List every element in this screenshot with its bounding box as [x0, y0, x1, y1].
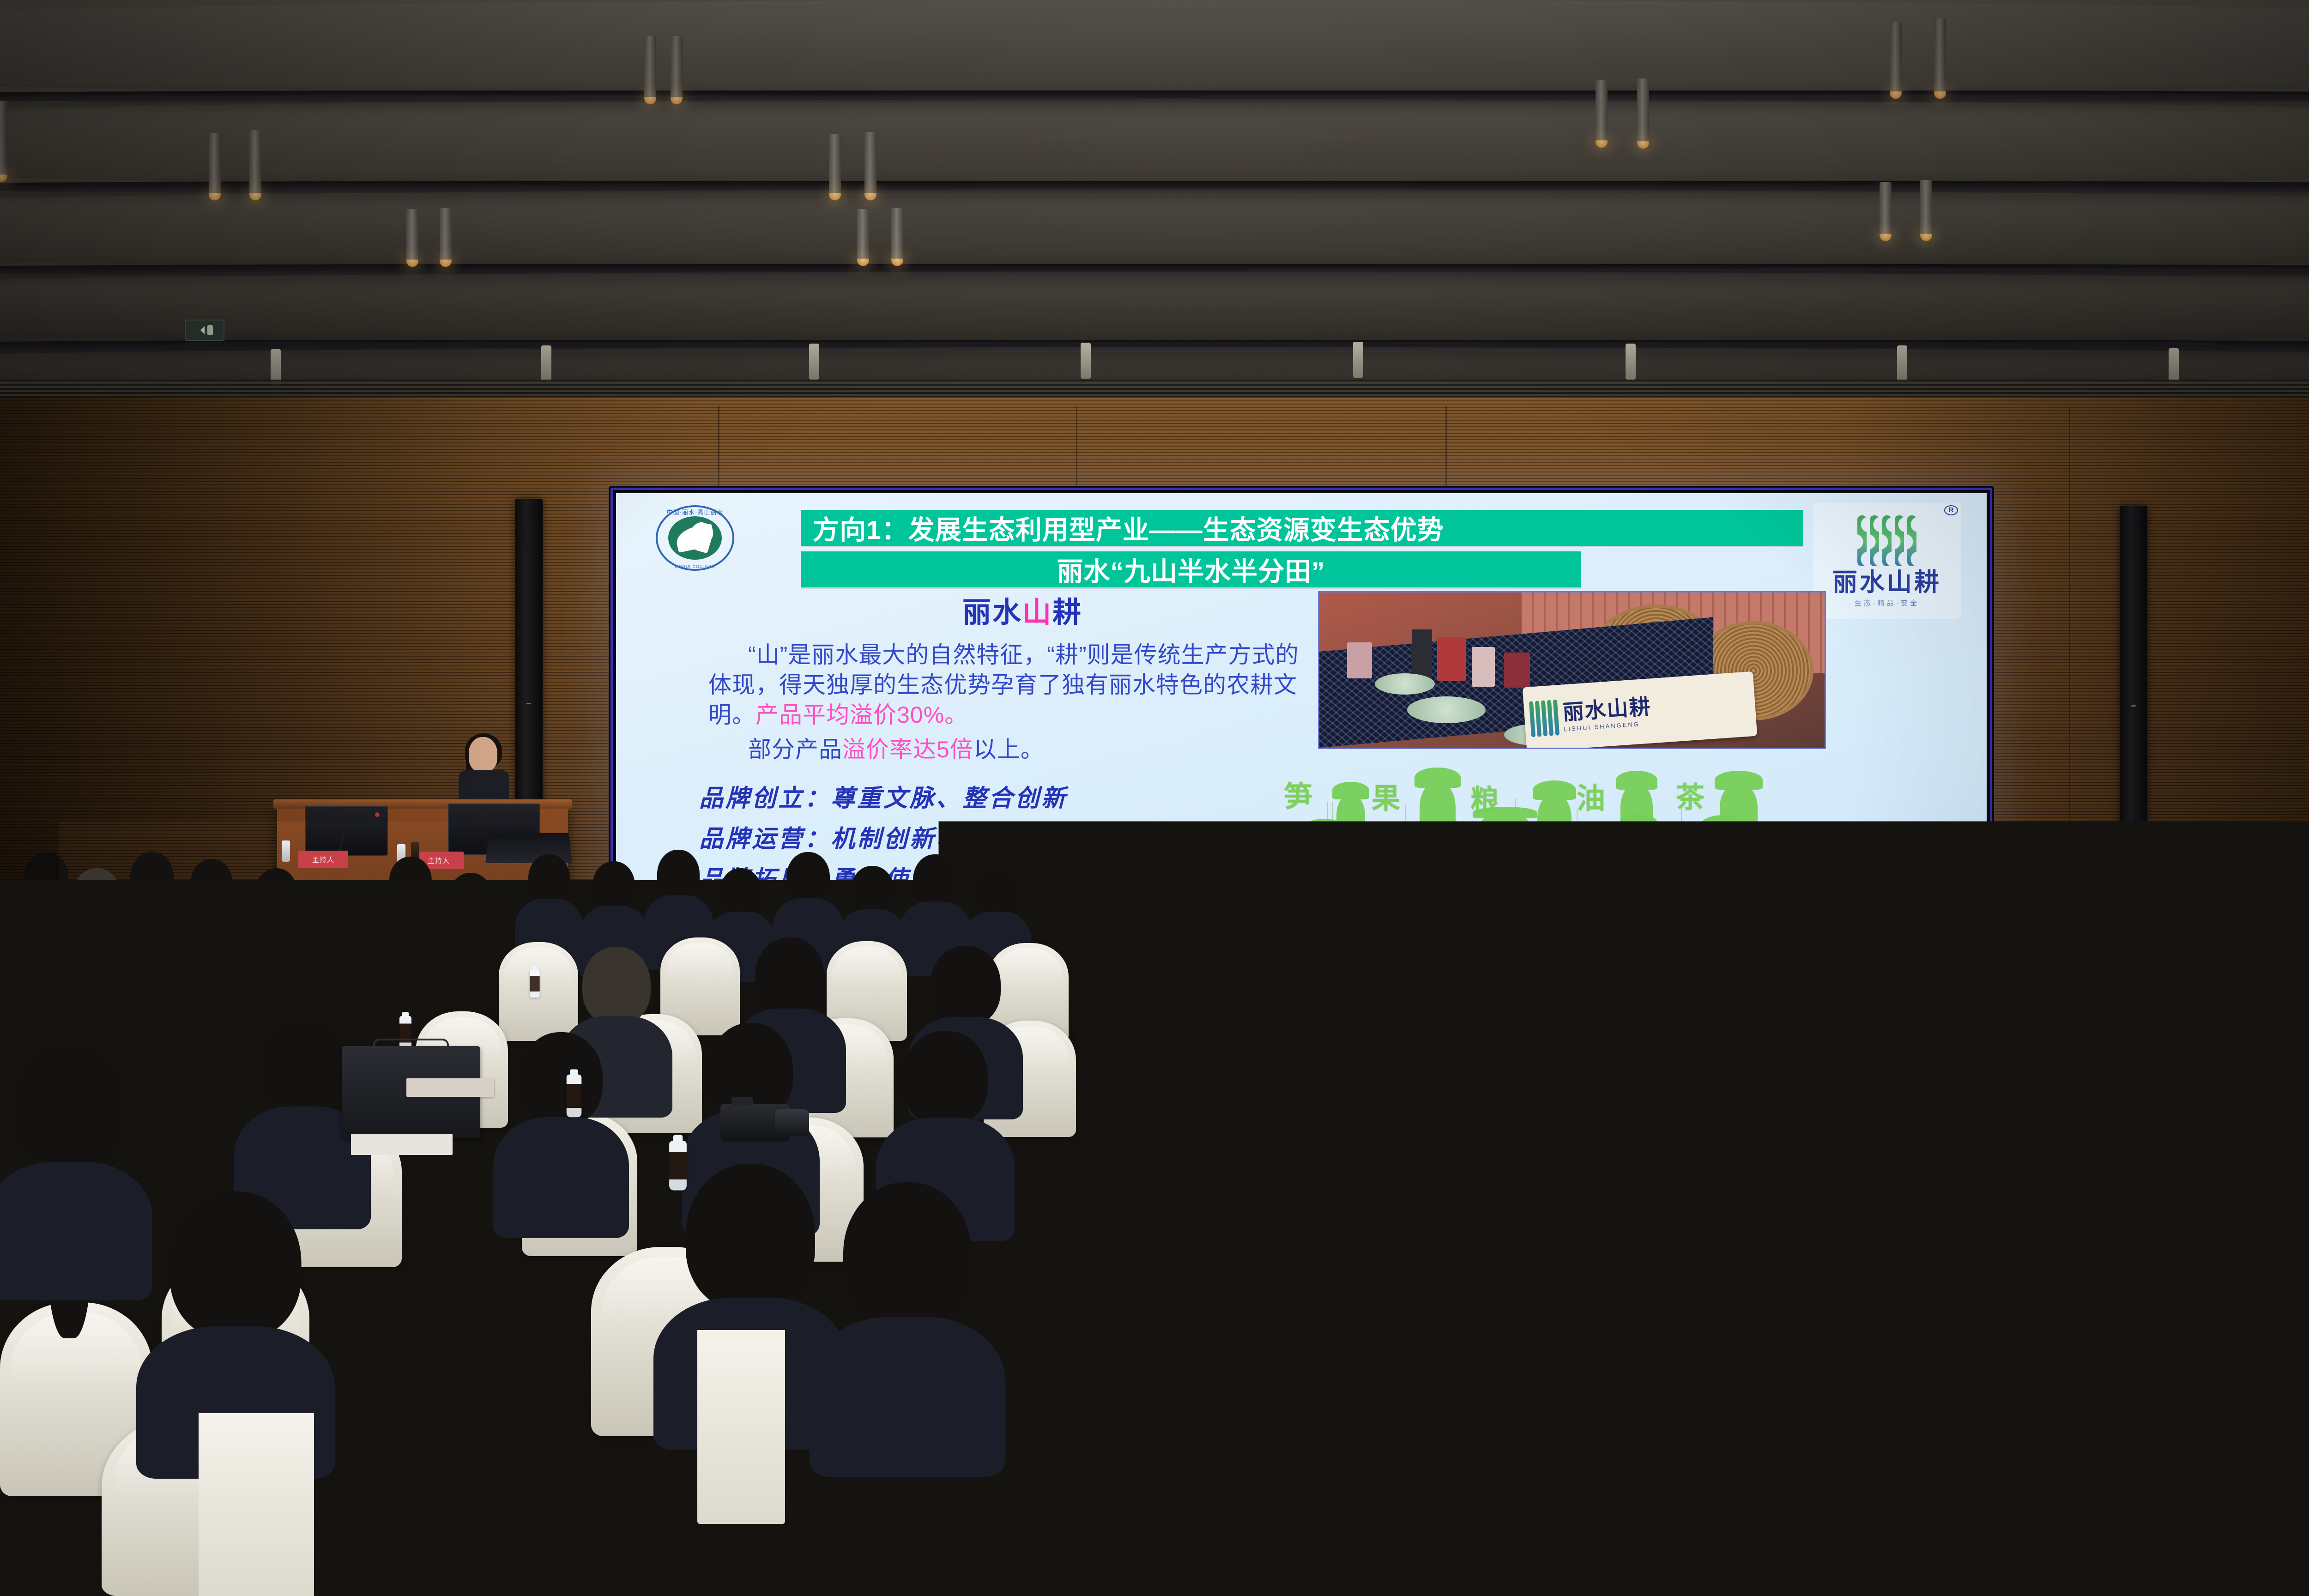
brand-heading-part1: 丽水: [962, 597, 1022, 629]
farm-char-cha: 茶: [1676, 774, 1705, 816]
brand-logo-subtitle: 生态·精品·安全: [1821, 598, 1952, 608]
brand-logo-name: 丽水山耕: [1821, 570, 1952, 595]
ceiling-downlight: [864, 132, 876, 200]
potted-plant-left: [1105, 919, 1174, 1016]
nameplate-host-left: 主持人: [298, 851, 348, 868]
audience-person: [249, 1021, 356, 1205]
ceiling-downlight: [406, 209, 418, 267]
audience-person: [2041, 1201, 2226, 1524]
audience-person: [0, 1044, 139, 1284]
chair-skirt: [199, 1413, 314, 1596]
chair-skirt: [1912, 1367, 2013, 1596]
wall-uplight: [809, 344, 819, 380]
audience-person: [152, 1191, 319, 1450]
chair-skirt: [697, 1330, 785, 1524]
water-bottle: [567, 1075, 582, 1118]
water-bottle: [669, 1141, 687, 1190]
exit-sign-icon: [185, 320, 224, 341]
slide-body-text: “山”是丽水最大的自然特征，“耕”则是传统生产方式的体现，得天独厚的生态优势孕育…: [708, 640, 1309, 765]
wall-uplight: [541, 345, 551, 381]
audience-person: [1870, 1025, 1981, 1218]
water-bottle: [1806, 1170, 1826, 1228]
ceiling-downlight: [644, 36, 656, 104]
paper-sheet: [351, 1134, 453, 1155]
body-paragraph-2-highlight: 溢价率达5倍: [842, 737, 973, 762]
ceiling-downlight: [440, 208, 452, 267]
wall-uplight: [1626, 344, 1636, 380]
ceiling-downlight: [857, 209, 869, 266]
ceiling-downlight: [1890, 22, 1902, 99]
body-paragraph-2a: 部分产品: [748, 737, 842, 762]
audience-person: [1783, 948, 1873, 1105]
dslr-camera: [720, 1104, 790, 1142]
body-paragraph-2b: 以上。: [973, 737, 1044, 762]
auditorium-scene: 中国·丽水·秀山丽水 LISHUI COLLEGE R 丽水山耕 生态·精品·安…: [0, 0, 2309, 1596]
audience-person: [249, 868, 303, 979]
product-display-photo: 丽水山耕 LISHUI SHANGENG: [1318, 591, 1826, 749]
audience-person: [508, 1032, 614, 1215]
brand-heading-highlight: 山: [1022, 597, 1052, 629]
brand-heading: 丽水山耕: [801, 598, 1244, 627]
ceiling-downlight: [1637, 79, 1649, 149]
audience-person: [2073, 1034, 2185, 1224]
water-bottle: [1654, 1072, 1669, 1115]
brand-heading-part2: 耕: [1052, 597, 1082, 629]
audience-person: [1482, 1025, 1591, 1215]
body-paragraph-1-highlight: 产品平均溢价30%。: [756, 702, 968, 728]
ceiling-downlight: [1596, 80, 1608, 148]
seal-top-text: 中国·丽水·秀山丽水: [656, 508, 734, 516]
audience-person: [443, 873, 498, 984]
seal-bottom-text: LISHUI COLLEGE: [656, 564, 734, 569]
farm-char-you: 油: [1577, 775, 1605, 816]
ceiling-downlight: [0, 101, 7, 182]
chair-skirt: [1635, 1367, 1746, 1596]
terrace-wave-icon: [1821, 510, 1952, 566]
ceiling-downlight: [209, 133, 221, 200]
ceiling-downlight: [1920, 180, 1932, 241]
ceiling-downlight: [1880, 182, 1892, 241]
farm-char-guo: 果: [1372, 775, 1400, 816]
audience-person: [2263, 1182, 2309, 1505]
wall-uplight: [1897, 345, 1907, 381]
audience-person: [185, 859, 238, 974]
presentation-slide[interactable]: 中国·丽水·秀山丽水 LISHUI COLLEGE R 丽水山耕 生态·精品·安…: [616, 493, 1987, 908]
water-bottle: [361, 962, 370, 989]
farmer-figure: [1309, 832, 1340, 883]
water-bottle: [1629, 985, 1639, 1015]
slide-key-line-1: 品牌创立：尊重文脉、整合创新: [699, 779, 1068, 813]
slide-key-line-2: 品牌运营：机制创新、价值跃升: [699, 819, 1068, 854]
ceiling-downlight: [671, 36, 683, 104]
photo-sign-text: 丽水山耕: [1562, 695, 1652, 723]
water-bottle: [530, 970, 539, 998]
lishui-shangeng-logo: R 丽水山耕 生态·精品·安全: [1813, 503, 1961, 619]
registered-trademark-icon: R: [1944, 505, 1958, 515]
ceiling-downlight: [829, 134, 841, 200]
farm-char-sun: 笋: [1284, 773, 1312, 815]
paper-sheet: [1566, 1030, 1635, 1046]
slide-title-banner-2: 丽水“九山半水半分田”: [801, 551, 1581, 587]
ceiling: [0, 0, 2309, 406]
notebook: [406, 1078, 494, 1097]
institutional-seal-icon: 中国·丽水·秀山丽水 LISHUI COLLEGE: [656, 505, 734, 571]
ox-figure: [1480, 816, 1530, 850]
water-bottle: [497, 1257, 521, 1326]
ceiling-downlight: [891, 208, 903, 266]
wall-uplight: [1353, 342, 1363, 378]
ceiling-downlight: [1934, 18, 1946, 99]
farmer-figure: [1429, 832, 1459, 884]
farmer-figure: [1336, 795, 1365, 846]
wall-uplight: [1081, 343, 1091, 379]
notebook: [413, 1330, 543, 1357]
slide-title-banner-1: 方向1：发展生态利用型产业——生态资源变生态优势: [801, 510, 1803, 546]
podium-water-bottle: [282, 840, 290, 862]
ceiling-downlight: [249, 130, 261, 200]
audience-person: [827, 1182, 988, 1450]
wall-uplight: [2169, 348, 2179, 384]
farm-char-gu: 菇: [1756, 826, 1784, 867]
